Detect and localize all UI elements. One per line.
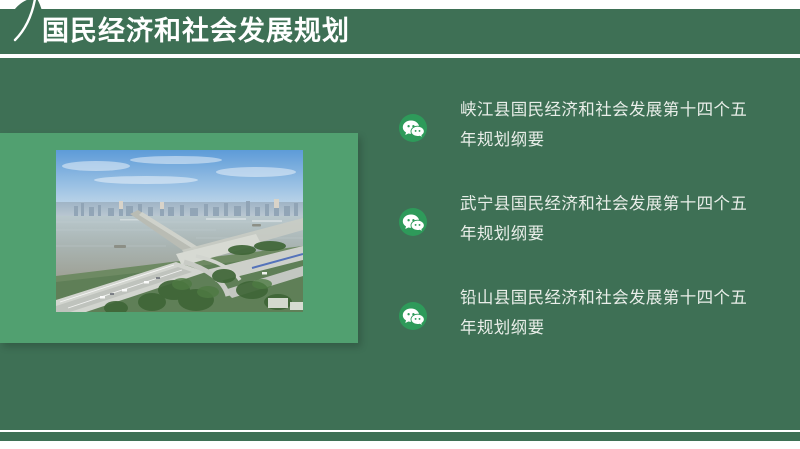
list-item[interactable]: 铅山县国民经济和社会发展第十四个五年规划纲要: [398, 283, 784, 343]
slide-canvas: 国民经济和社会发展规划: [0, 0, 800, 449]
list-item-label: 武宁县国民经济和社会发展第十四个五年规划纲要: [460, 189, 760, 249]
list-item[interactable]: 武宁县国民经济和社会发展第十四个五年规划纲要: [398, 189, 784, 249]
list-item[interactable]: 峡江县国民经济和社会发展第十四个五年规划纲要: [398, 95, 784, 155]
hero-photo: [56, 150, 303, 312]
leaf-icon: [2, 0, 54, 53]
list-item-label: 铅山县国民经济和社会发展第十四个五年规划纲要: [460, 283, 760, 343]
chat-bubble-icon: [398, 113, 428, 143]
chat-bubble-icon: [398, 207, 428, 237]
slide-header: 国民经济和社会发展规划: [0, 9, 800, 54]
page-title: 国民经济和社会发展规划: [42, 17, 350, 44]
document-list: 峡江县国民经济和社会发展第十四个五年规划纲要 武宁县国民经济和社会发展第十四个五…: [398, 95, 784, 343]
bottom-accent-bar: [0, 432, 800, 441]
chat-bubble-icon: [398, 301, 428, 331]
list-item-label: 峡江县国民经济和社会发展第十四个五年规划纲要: [460, 95, 760, 155]
